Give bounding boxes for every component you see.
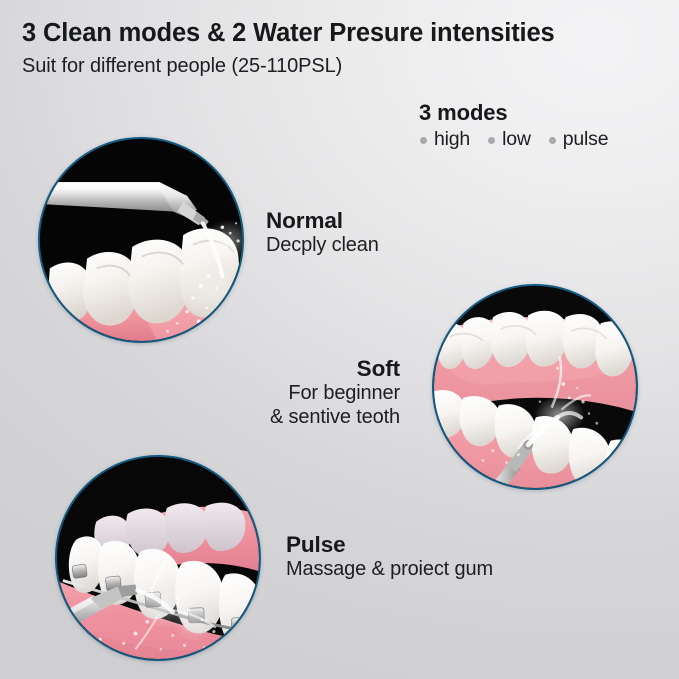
mode-legend-label: pulse <box>563 130 609 150</box>
mode-legend-label: high <box>434 130 470 150</box>
mode-image-pulse <box>55 455 261 661</box>
mode-caption-normal: Normal Decply clean <box>266 208 379 258</box>
modes-legend: 3 modes high low pulse <box>419 100 608 150</box>
mode-caption-soft: Soft For beginner & sentive teoth <box>180 356 400 429</box>
mode-image-soft-inner <box>434 286 636 488</box>
header-block: 3 Clean modes & 2 Water Presure intensit… <box>22 18 662 78</box>
mode-caption-pulse: Pulse Massage & proiect gum <box>286 532 493 582</box>
mode-legend-item-pulse: pulse <box>549 130 609 150</box>
mode-image-pulse-inner <box>57 457 259 659</box>
bullet-dot-icon <box>488 137 495 144</box>
bullet-dot-icon <box>549 137 556 144</box>
mode-description-line2: & sentive teoth <box>180 406 400 430</box>
mode-legend-item-high: high <box>420 130 470 150</box>
bullet-dot-icon <box>420 137 427 144</box>
teeth-closeup-illustration <box>40 139 242 341</box>
mode-description: Decply clean <box>266 234 379 258</box>
product-infographic: 3 Clean modes & 2 Water Presure intensit… <box>0 0 679 679</box>
mode-title: Soft <box>180 356 400 382</box>
full-mouth-illustration <box>434 286 636 488</box>
modes-legend-title: 3 modes <box>419 100 608 125</box>
mode-image-soft <box>432 284 638 490</box>
page-subtitle: Suit for different people (25-110PSL) <box>22 54 662 78</box>
mode-image-normal <box>38 137 244 343</box>
braces-illustration <box>57 457 259 659</box>
mode-description: Massage & proiect gum <box>286 558 493 582</box>
modes-legend-list: high low pulse <box>420 130 608 150</box>
mode-legend-item-low: low <box>488 130 531 150</box>
mode-image-normal-inner <box>40 139 242 341</box>
mode-title: Pulse <box>286 532 493 558</box>
mode-description-line1: For beginner <box>180 382 400 406</box>
mode-title: Normal <box>266 208 379 234</box>
page-title: 3 Clean modes & 2 Water Presure intensit… <box>22 18 662 48</box>
mode-legend-label: low <box>502 130 531 150</box>
